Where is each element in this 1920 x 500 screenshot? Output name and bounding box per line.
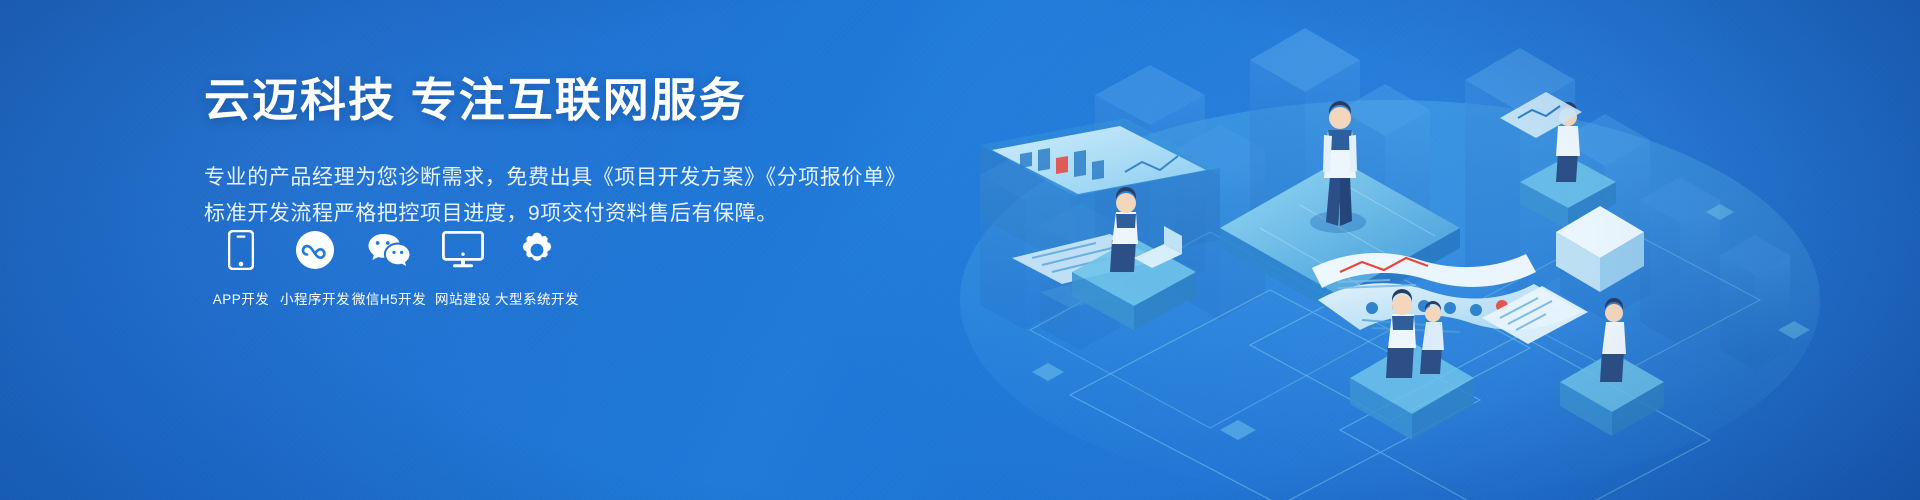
service-list: APP开发 小程序开发 微信 xyxy=(204,228,574,308)
service-item-app[interactable]: APP开发 xyxy=(204,228,278,308)
gear-icon xyxy=(517,228,557,272)
hero-banner: 云迈科技 专注互联网服务 专业的产品经理为您诊断需求，免费出具《项目开发方案》《… xyxy=(0,0,1920,500)
subtitle-line-2: 标准开发流程严格把控项目进度，9项交付资料售后有保障。 xyxy=(204,196,924,232)
service-label-system: 大型系统开发 xyxy=(495,288,579,308)
service-item-website[interactable]: 网站建设 xyxy=(426,228,500,308)
wechat-icon xyxy=(366,228,412,272)
mini-program-icon xyxy=(295,228,335,272)
subtitle-group: 专业的产品经理为您诊断需求，免费出具《项目开发方案》《分项报价单》 标准开发流程… xyxy=(204,160,924,232)
service-label-app: APP开发 xyxy=(213,288,270,308)
service-label-wechat: 微信H5开发 xyxy=(352,288,426,308)
service-item-system[interactable]: 大型系统开发 xyxy=(500,228,574,308)
service-item-wechat[interactable]: 微信H5开发 xyxy=(352,228,426,308)
mobile-phone-icon xyxy=(228,228,254,272)
service-label-miniprogram: 小程序开发 xyxy=(280,288,350,308)
page-title: 云迈科技 专注互联网服务 xyxy=(204,72,924,130)
illustration-isometric-tech xyxy=(920,0,1920,500)
service-label-website: 网站建设 xyxy=(435,288,491,308)
service-item-miniprogram[interactable]: 小程序开发 xyxy=(278,228,352,308)
monitor-icon xyxy=(442,228,484,272)
hero-copy-block: 云迈科技 专注互联网服务 专业的产品经理为您诊断需求，免费出具《项目开发方案》《… xyxy=(204,72,924,232)
subtitle-line-1: 专业的产品经理为您诊断需求，免费出具《项目开发方案》《分项报价单》 xyxy=(204,160,924,196)
